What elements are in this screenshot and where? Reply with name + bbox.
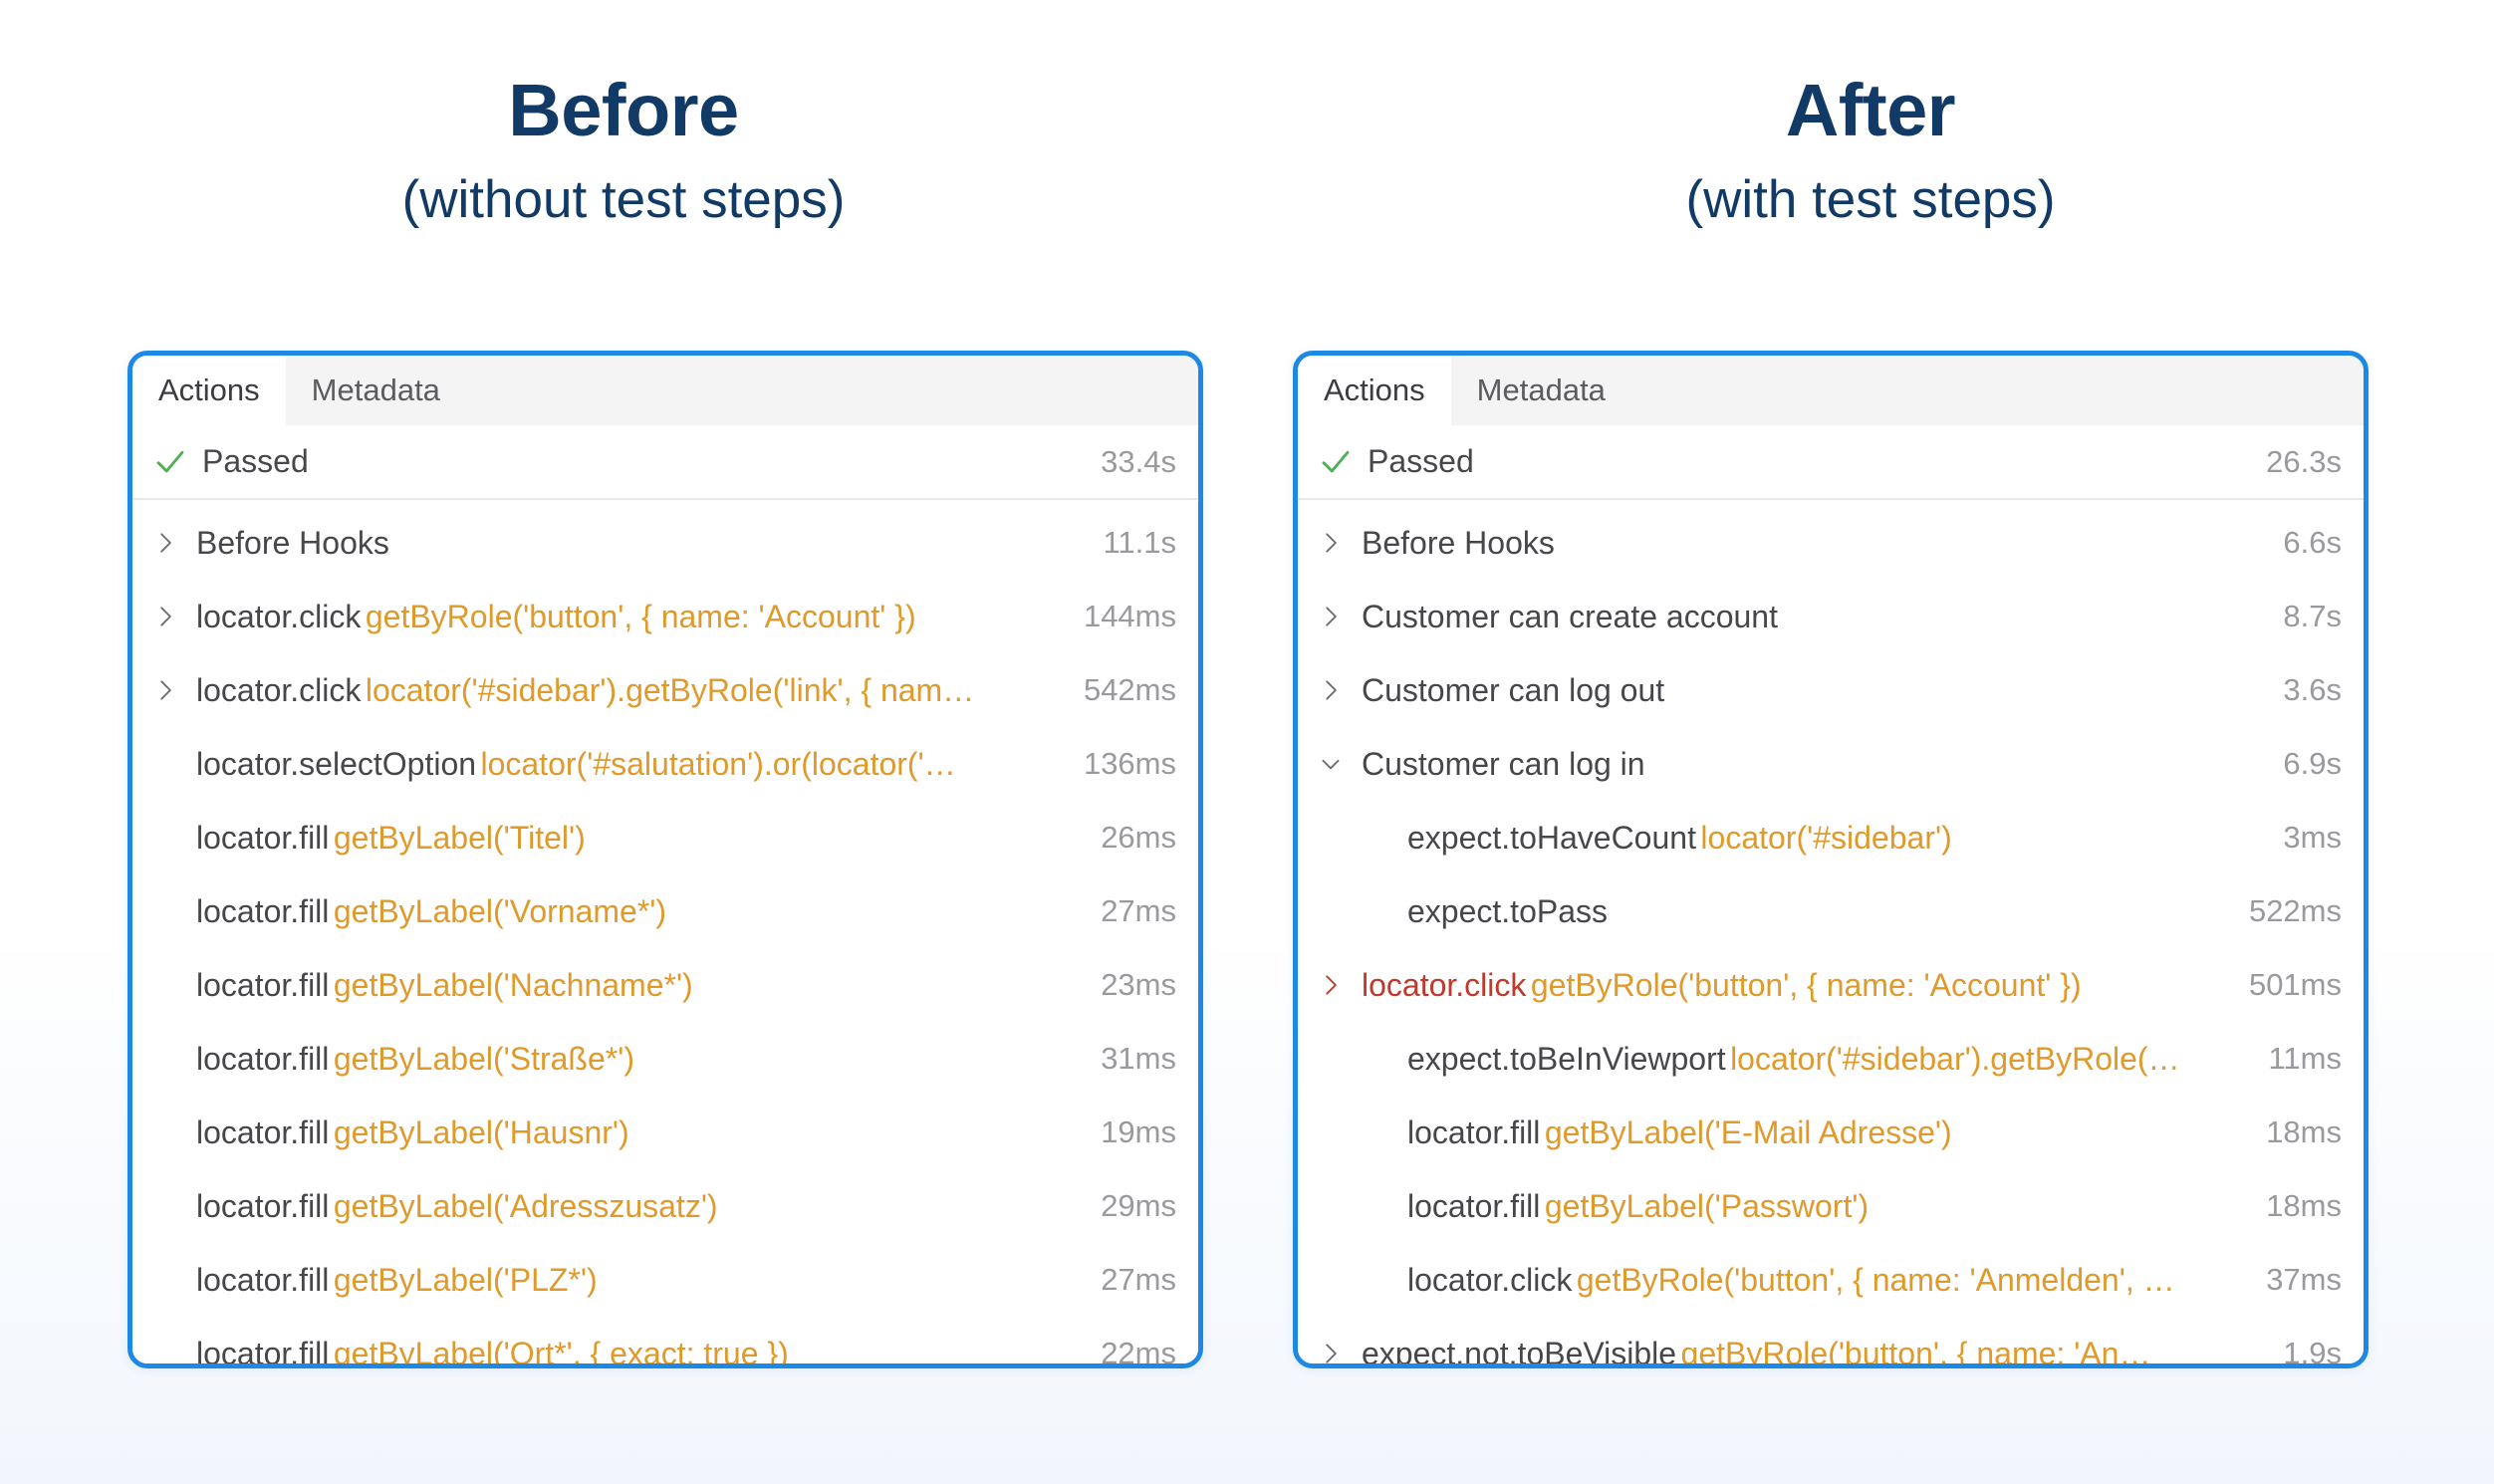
row-content: Customer can create account	[1362, 599, 2265, 635]
action-api-name: expect.toBeInViewport	[1407, 1041, 1726, 1077]
heading-before: Before (without test steps)	[0, 0, 1247, 339]
action-row[interactable]: locator.selectOption locator('#salutatio…	[132, 727, 1198, 801]
action-api-name: locator.click	[196, 599, 361, 634]
action-api-name: locator.click	[1407, 1262, 1572, 1298]
row-content: locator.fill getByLabel('Vorname*')	[196, 893, 1083, 930]
status-duration: 33.4s	[1101, 444, 1176, 480]
action-duration: 37ms	[2266, 1262, 2342, 1298]
chevron-down-icon[interactable]	[1318, 749, 1344, 779]
action-api-name: locator.fill	[1407, 1114, 1540, 1150]
action-selector: getByRole('button', { name: 'Account' })	[1531, 967, 2082, 1003]
action-selector: getByLabel('E-Mail Adresse')	[1545, 1114, 1952, 1150]
status-duration: 26.3s	[2266, 444, 2342, 480]
action-api-name: locator.fill	[1407, 1188, 1540, 1224]
action-selector: locator('#sidebar')	[1700, 820, 1951, 856]
row-content: Before Hooks	[1362, 525, 2265, 562]
action-row[interactable]: locator.click getByRole('button', { name…	[1298, 948, 2364, 1022]
test-status-row[interactable]: Passed33.4s	[132, 425, 1198, 500]
action-duration: 6.9s	[2283, 746, 2342, 782]
action-selector: locator('#sidebar').getByRole('link', { …	[366, 672, 974, 708]
chevron-right-icon[interactable]	[1318, 970, 1344, 1000]
action-selector: getByRole('button', { name: 'An…	[1681, 1336, 2151, 1369]
action-row[interactable]: Before Hooks6.6s	[1298, 506, 2364, 580]
action-selector: getByRole('button', { name: 'Anmelden', …	[1577, 1262, 2175, 1298]
action-row[interactable]: locator.fill getByLabel('Vorname*')27ms	[132, 874, 1198, 948]
action-duration: 3.6s	[2283, 672, 2342, 708]
heading-after-subtitle: (with test steps)	[1247, 173, 2494, 226]
action-row[interactable]: locator.fill getByLabel('Passwort')18ms	[1298, 1169, 2364, 1243]
chevron-right-icon[interactable]	[1318, 675, 1344, 705]
action-row[interactable]: expect.not.toBeVisible getByRole('button…	[1298, 1317, 2364, 1368]
action-api-name: Customer can create account	[1362, 599, 1778, 634]
check-icon	[1318, 444, 1354, 480]
action-api-name: locator.click	[196, 672, 361, 708]
action-duration: 11.1s	[1103, 525, 1176, 561]
action-duration: 522ms	[2249, 893, 2342, 929]
row-content: locator.fill getByLabel('PLZ*')	[196, 1262, 1083, 1299]
action-row[interactable]: locator.fill getByLabel('Nachname*')23ms	[132, 948, 1198, 1022]
row-content: locator.click getByRole('button', { name…	[1407, 1262, 2248, 1299]
tab-actions[interactable]: Actions	[1298, 356, 1451, 425]
tab-metadata[interactable]: Metadata	[1451, 356, 1631, 425]
tab-metadata[interactable]: Metadata	[286, 356, 466, 425]
action-duration: 22ms	[1101, 1336, 1176, 1368]
action-selector: getByLabel('Hausnr')	[334, 1114, 629, 1150]
row-content: expect.toPass	[1407, 893, 2231, 930]
action-api-name: locator.fill	[196, 1336, 329, 1369]
heading-before-title: Before	[0, 74, 1247, 147]
actions-list: Before Hooks6.6sCustomer can create acco…	[1298, 500, 2364, 1368]
action-selector: getByLabel('Vorname*')	[334, 893, 666, 929]
action-api-name: locator.fill	[196, 1114, 329, 1150]
action-row[interactable]: locator.fill getByLabel('PLZ*')27ms	[132, 1243, 1198, 1317]
chevron-right-icon[interactable]	[1318, 528, 1344, 558]
action-row[interactable]: locator.fill getByLabel('Straße*')31ms	[132, 1022, 1198, 1096]
action-row[interactable]: locator.fill getByLabel('E-Mail Adresse'…	[1298, 1096, 2364, 1169]
action-duration: 136ms	[1084, 746, 1176, 782]
action-row[interactable]: locator.fill getByLabel('Titel')26ms	[132, 801, 1198, 874]
action-selector: locator('#sidebar').getByRole(…	[1730, 1041, 2180, 1077]
action-row[interactable]: locator.fill getByLabel('Adresszusatz')2…	[132, 1169, 1198, 1243]
row-content: locator.fill getByLabel('Titel')	[196, 820, 1083, 857]
action-duration: 31ms	[1101, 1041, 1176, 1077]
action-duration: 18ms	[2266, 1114, 2342, 1150]
action-duration: 3ms	[2283, 820, 2342, 856]
action-duration: 501ms	[2249, 967, 2342, 1003]
action-duration: 27ms	[1101, 1262, 1176, 1298]
action-selector: getByLabel('Passwort')	[1545, 1188, 1869, 1224]
heading-before-subtitle: (without test steps)	[0, 173, 1247, 226]
action-api-name: locator.fill	[196, 1188, 329, 1224]
action-row[interactable]: locator.fill getByLabel('Hausnr')19ms	[132, 1096, 1198, 1169]
tab-actions[interactable]: Actions	[132, 356, 286, 425]
action-api-name: Before Hooks	[196, 525, 389, 561]
chevron-right-icon[interactable]	[152, 675, 178, 705]
row-content: locator.fill getByLabel('Nachname*')	[196, 967, 1083, 1004]
action-api-name: expect.not.toBeVisible	[1362, 1336, 1676, 1369]
action-row[interactable]: Customer can create account8.7s	[1298, 580, 2364, 653]
panel-slot-after: ActionsMetadataPassed26.3sBefore Hooks6.…	[1247, 351, 2494, 1368]
test-status-row[interactable]: Passed26.3s	[1298, 425, 2364, 500]
action-api-name: Customer can log in	[1362, 746, 1645, 782]
row-content: locator.fill getByLabel('Ort*', { exact:…	[196, 1336, 1083, 1369]
row-content: locator.fill getByLabel('Passwort')	[1407, 1188, 2248, 1225]
action-selector: getByLabel('PLZ*')	[334, 1262, 598, 1298]
status-label: Passed	[1368, 443, 2266, 480]
comparison-stage: Before (without test steps) After (with …	[0, 0, 2494, 1484]
row-content: locator.click getByRole('button', { name…	[1362, 967, 2231, 1004]
action-row[interactable]: expect.toHaveCount locator('#sidebar')3m…	[1298, 801, 2364, 874]
action-duration: 6.6s	[2283, 525, 2342, 561]
action-row[interactable]: locator.fill getByLabel('Ort*', { exact:…	[132, 1317, 1198, 1368]
action-row[interactable]: expect.toPass522ms	[1298, 874, 2364, 948]
action-duration: 1.9s	[2283, 1336, 2342, 1368]
action-api-name: locator.fill	[196, 820, 329, 856]
action-duration: 8.7s	[2283, 599, 2342, 634]
action-selector: getByLabel('Straße*')	[334, 1041, 634, 1077]
action-duration: 144ms	[1084, 599, 1176, 634]
row-content: locator.fill getByLabel('Hausnr')	[196, 1114, 1083, 1151]
heading-after-title: After	[1247, 74, 2494, 147]
row-content: expect.toBeInViewport locator('#sidebar'…	[1407, 1041, 2250, 1078]
heading-after: After (with test steps)	[1247, 0, 2494, 339]
action-row[interactable]: locator.click getByRole('button', { name…	[132, 580, 1198, 653]
action-api-name: locator.fill	[196, 1041, 329, 1077]
chevron-right-icon[interactable]	[152, 602, 178, 631]
action-api-name: expect.toPass	[1407, 893, 1608, 929]
action-api-name: locator.fill	[196, 1262, 329, 1298]
panels-area: ActionsMetadataPassed33.4sBefore Hooks11…	[0, 351, 2494, 1368]
check-icon	[152, 444, 188, 480]
tabbar: ActionsMetadata	[1298, 356, 2364, 425]
row-content: locator.fill getByLabel('Straße*')	[196, 1041, 1083, 1078]
row-content: locator.fill getByLabel('E-Mail Adresse'…	[1407, 1114, 2248, 1151]
action-api-name: locator.click	[1362, 967, 1526, 1003]
chevron-right-icon[interactable]	[1318, 1339, 1344, 1368]
status-label: Passed	[202, 443, 1101, 480]
row-content: locator.selectOption locator('#salutatio…	[196, 746, 1066, 783]
row-content: locator.click locator('#sidebar').getByR…	[196, 672, 1066, 709]
row-content: locator.click getByRole('button', { name…	[196, 599, 1066, 635]
panel-slot-before: ActionsMetadataPassed33.4sBefore Hooks11…	[0, 351, 1247, 1368]
action-row[interactable]: locator.click locator('#sidebar').getByR…	[132, 653, 1198, 727]
row-content: expect.toHaveCount locator('#sidebar')	[1407, 820, 2265, 857]
action-selector: getByRole('button', { name: 'Account' })	[366, 599, 916, 634]
row-content: expect.not.toBeVisible getByRole('button…	[1362, 1336, 2265, 1369]
action-duration: 11ms	[2268, 1041, 2342, 1077]
chevron-right-icon[interactable]	[152, 528, 178, 558]
action-duration: 542ms	[1084, 672, 1176, 708]
chevron-right-icon[interactable]	[1318, 602, 1344, 631]
action-selector: getByLabel('Adresszusatz')	[334, 1188, 718, 1224]
action-api-name: Before Hooks	[1362, 525, 1555, 561]
action-selector: getByLabel('Nachname*')	[334, 967, 693, 1003]
action-api-name: expect.toHaveCount	[1407, 820, 1696, 856]
action-api-name: Customer can log out	[1362, 672, 1664, 708]
action-duration: 23ms	[1101, 967, 1176, 1003]
action-api-name: locator.fill	[196, 967, 329, 1003]
actions-list: Before Hooks11.1slocator.click getByRole…	[132, 500, 1198, 1368]
action-selector: getByLabel('Ort*', { exact: true })	[334, 1336, 789, 1369]
row-content: locator.fill getByLabel('Adresszusatz')	[196, 1188, 1083, 1225]
trace-panel-after: ActionsMetadataPassed26.3sBefore Hooks6.…	[1293, 351, 2369, 1368]
action-api-name: locator.fill	[196, 893, 329, 929]
action-duration: 18ms	[2266, 1188, 2342, 1224]
headings-area: Before (without test steps) After (with …	[0, 0, 2494, 339]
action-row[interactable]: Customer can log in6.9s	[1298, 727, 2364, 801]
trace-panel-before: ActionsMetadataPassed33.4sBefore Hooks11…	[127, 351, 1203, 1368]
tabbar: ActionsMetadata	[132, 356, 1198, 425]
action-duration: 19ms	[1101, 1114, 1176, 1150]
action-duration: 27ms	[1101, 893, 1176, 929]
action-row[interactable]: expect.toBeInViewport locator('#sidebar'…	[1298, 1022, 2364, 1096]
action-duration: 29ms	[1101, 1188, 1176, 1224]
action-row[interactable]: Customer can log out3.6s	[1298, 653, 2364, 727]
action-selector: getByLabel('Titel')	[334, 820, 586, 856]
action-api-name: locator.selectOption	[196, 746, 476, 782]
action-row[interactable]: Before Hooks11.1s	[132, 506, 1198, 580]
action-selector: locator('#salutation').or(locator('…	[481, 746, 956, 782]
row-content: Customer can log out	[1362, 672, 2265, 709]
row-content: Before Hooks	[196, 525, 1085, 562]
action-duration: 26ms	[1101, 820, 1176, 856]
action-row[interactable]: locator.click getByRole('button', { name…	[1298, 1243, 2364, 1317]
row-content: Customer can log in	[1362, 746, 2265, 783]
